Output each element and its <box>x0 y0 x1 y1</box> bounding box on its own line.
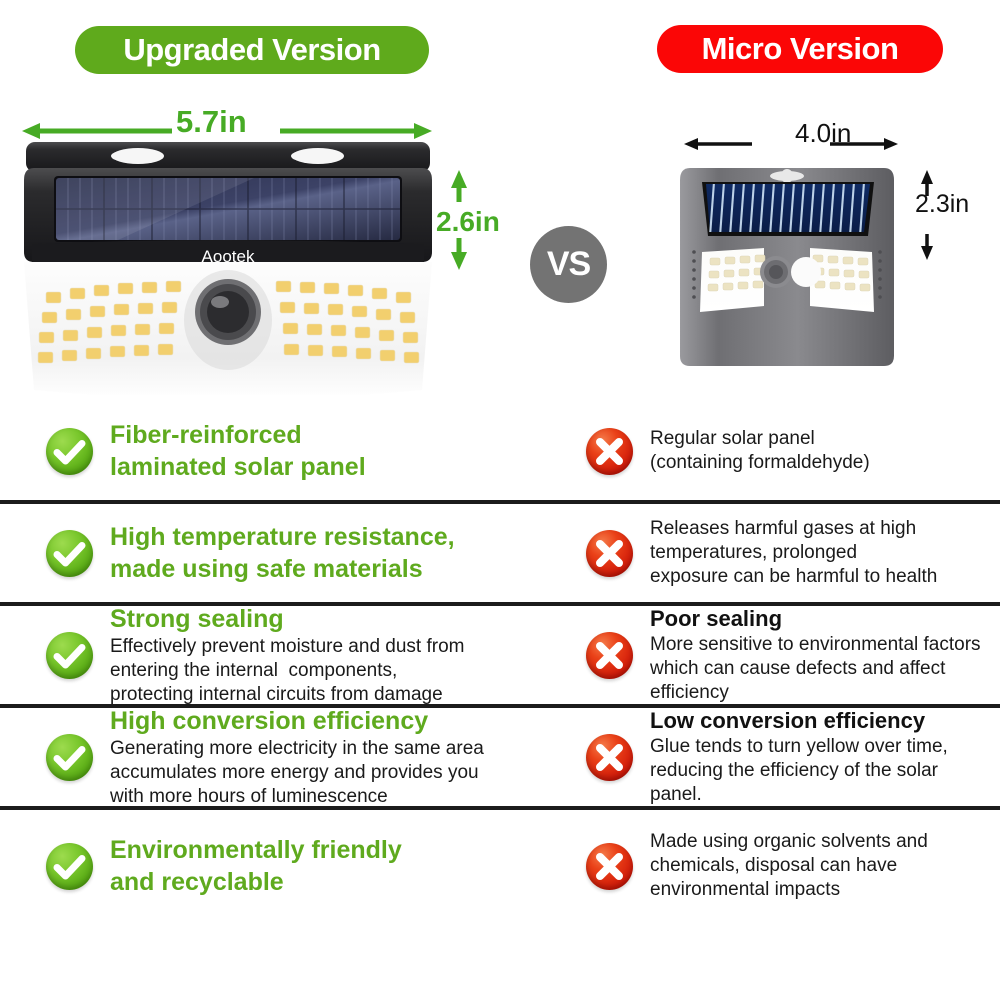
pro-headline: High conversion efficiency <box>110 705 540 737</box>
text-line: Glue tends to turn yellow over time, <box>650 735 1000 759</box>
dimension-label-width-left: 5.7in <box>176 104 247 140</box>
text-line: with more hours of luminescence <box>110 785 540 809</box>
check-circle-icon <box>46 428 93 475</box>
text-line: accumulates more energy and provides you <box>110 761 540 785</box>
text-line: (containing formaldehyde) <box>650 451 1000 475</box>
text-line: Generating more electricity in the same … <box>110 737 540 761</box>
check-circle-icon <box>46 843 93 890</box>
text-line: Made using organic solvents and <box>650 830 1000 854</box>
check-circle-icon <box>46 734 93 781</box>
text-line: reducing the efficiency of the solar <box>650 759 1000 783</box>
con-body: Made using organic solvents andchemicals… <box>650 830 1000 902</box>
comparison-row: High temperature resistance,made using s… <box>0 504 1000 606</box>
con-text: Poor sealingMore sensitive to environmen… <box>650 605 1000 705</box>
badge-micro-version: Micro Version <box>657 25 943 73</box>
vs-label: VS <box>547 245 590 284</box>
check-circle-icon <box>46 632 93 679</box>
con-cell: Poor sealingMore sensitive to environmen… <box>540 606 1000 704</box>
text-line: temperatures, prolonged <box>650 541 1000 565</box>
text-line: chemicals, disposal can have <box>650 854 1000 878</box>
text-line: Environmentally friendly <box>110 834 540 866</box>
pro-cell: Strong sealingEffectively prevent moistu… <box>0 606 540 704</box>
pro-text: Strong sealingEffectively prevent moistu… <box>110 603 540 707</box>
text-line: made using safe materials <box>110 553 540 585</box>
dimension-arrow-width-right <box>684 135 898 153</box>
text-line: environmental impacts <box>650 878 1000 902</box>
vs-badge: VS <box>530 226 607 303</box>
comparison-row: High conversion efficiencyGenerating mor… <box>0 708 1000 810</box>
cross-circle-icon <box>586 428 633 475</box>
con-text: Releases harmful gases at hightemperatur… <box>650 517 1000 589</box>
con-headline: Low conversion efficiency <box>650 707 1000 735</box>
text-line: protecting internal circuits from damage <box>110 683 540 707</box>
pro-body: Effectively prevent moisture and dust fr… <box>110 635 540 707</box>
text-line: High temperature resistance, <box>110 521 540 553</box>
con-cell: Made using organic solvents andchemicals… <box>540 810 1000 922</box>
pro-cell: High temperature resistance,made using s… <box>0 504 540 602</box>
dimension-label-height-left: 2.6in <box>436 206 500 238</box>
product-comparison-infographic: Upgraded Version Micro Version <box>0 0 1000 1000</box>
check-circle-icon <box>46 530 93 577</box>
badge-micro-label: Micro Version <box>702 31 899 67</box>
con-body: Glue tends to turn yellow over time,redu… <box>650 735 1000 807</box>
pro-headline: Environmentally friendlyand recyclable <box>110 834 540 898</box>
cross-circle-icon <box>586 632 633 679</box>
cross-circle-icon <box>586 530 633 577</box>
badge-upgraded-version: Upgraded Version <box>75 26 429 74</box>
pro-text: High conversion efficiencyGenerating mor… <box>110 705 540 809</box>
con-cell: Regular solar panel(containing formaldeh… <box>540 402 1000 500</box>
text-line: panel. <box>650 783 1000 807</box>
text-line: which can cause defects and affect <box>650 657 1000 681</box>
pro-cell: Fiber-reinforcedlaminated solar panel <box>0 402 540 500</box>
pro-headline: Strong sealing <box>110 603 540 635</box>
con-text: Made using organic solvents andchemicals… <box>650 830 1000 902</box>
pro-text: Environmentally friendlyand recyclable <box>110 834 540 898</box>
con-cell: Low conversion efficiencyGlue tends to t… <box>540 708 1000 806</box>
dimension-label-width-right: 4.0in <box>795 118 851 149</box>
pro-text: High temperature resistance,made using s… <box>110 521 540 585</box>
text-line: Effectively prevent moisture and dust fr… <box>110 635 540 659</box>
text-line: Fiber-reinforced <box>110 419 540 451</box>
con-body: More sensitive to environmental factorsw… <box>650 633 1000 705</box>
pro-cell: High conversion efficiencyGenerating mor… <box>0 708 540 806</box>
text-line: entering the internal components, <box>110 659 540 683</box>
con-body: Regular solar panel(containing formaldeh… <box>650 427 1000 475</box>
pro-headline: High temperature resistance,made using s… <box>110 521 540 585</box>
text-line: efficiency <box>650 681 1000 705</box>
text-line: and recyclable <box>110 866 540 898</box>
cross-circle-icon <box>586 734 633 781</box>
con-text: Regular solar panel(containing formaldeh… <box>650 427 1000 475</box>
con-body: Releases harmful gases at hightemperatur… <box>650 517 1000 589</box>
cross-circle-icon <box>586 843 633 890</box>
comparison-row: Fiber-reinforcedlaminated solar panelReg… <box>0 402 1000 504</box>
comparison-table: Fiber-reinforcedlaminated solar panelReg… <box>0 402 1000 922</box>
text-line: laminated solar panel <box>110 451 540 483</box>
con-headline: Poor sealing <box>650 605 1000 633</box>
con-cell: Releases harmful gases at hightemperatur… <box>540 504 1000 602</box>
pro-headline: Fiber-reinforcedlaminated solar panel <box>110 419 540 483</box>
con-text: Low conversion efficiencyGlue tends to t… <box>650 707 1000 807</box>
badge-upgraded-label: Upgraded Version <box>123 32 380 68</box>
micro-product-image <box>672 160 902 390</box>
dimension-label-height-right: 2.3in <box>915 190 969 219</box>
pro-body: Generating more electricity in the same … <box>110 737 540 809</box>
comparison-row: Environmentally friendlyand recyclableMa… <box>0 810 1000 922</box>
pro-cell: Environmentally friendlyand recyclable <box>0 810 540 922</box>
text-line: Regular solar panel <box>650 427 1000 451</box>
text-line: More sensitive to environmental factors <box>650 633 1000 657</box>
comparison-row: Strong sealingEffectively prevent moistu… <box>0 606 1000 708</box>
upgraded-product-image: Aootek <box>8 140 448 395</box>
pro-text: Fiber-reinforcedlaminated solar panel <box>110 419 540 483</box>
text-line: Releases harmful gases at high <box>650 517 1000 541</box>
motion-sensor <box>184 270 272 370</box>
text-line: exposure can be harmful to health <box>650 565 1000 589</box>
